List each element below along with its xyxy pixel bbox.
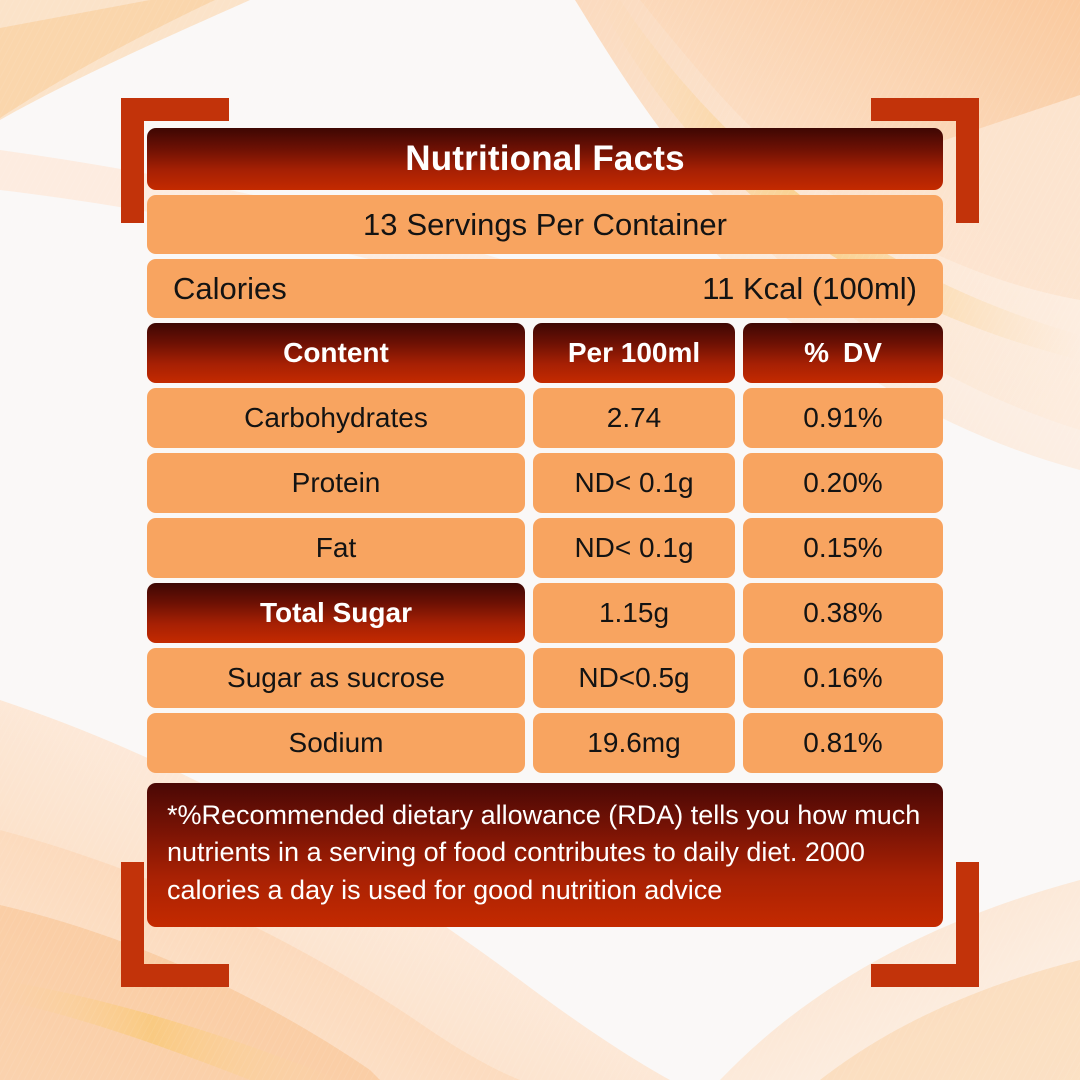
nutrient-per-100ml-cell: 2.74 bbox=[533, 388, 735, 448]
nutrient-name-cell: Protein bbox=[147, 453, 525, 513]
nutrition-label-graphic: Nutritional Facts 13 Servings Per Contai… bbox=[0, 0, 1080, 1080]
nutrient-rows-container: Carbohydrates2.740.91%ProteinND< 0.1g0.2… bbox=[147, 388, 943, 773]
nutrient-dv-value: 0.38% bbox=[803, 597, 882, 629]
nutrient-per-100ml-value: 2.74 bbox=[607, 402, 662, 434]
calories-row: Calories 11 Kcal (100ml) bbox=[147, 259, 943, 318]
bracket-arm-vertical bbox=[121, 98, 144, 223]
calories-label: Calories bbox=[173, 271, 287, 307]
table-row: Sodium19.6mg0.81% bbox=[147, 713, 943, 773]
nutrient-name-label: Sugar as sucrose bbox=[227, 662, 445, 694]
column-header-dv-label: DV bbox=[843, 337, 882, 369]
nutrient-name-cell: Sodium bbox=[147, 713, 525, 773]
page-title: Nutritional Facts bbox=[405, 139, 685, 179]
nutrient-per-100ml-cell: 1.15g bbox=[533, 583, 735, 643]
nutrient-per-100ml-value: ND<0.5g bbox=[578, 662, 689, 694]
bracket-arm-vertical bbox=[121, 862, 144, 987]
nutrient-dv-value: 0.91% bbox=[803, 402, 882, 434]
bracket-arm-horizontal bbox=[121, 98, 229, 121]
nutrient-name-cell: Carbohydrates bbox=[147, 388, 525, 448]
servings-per-container-label: Servings Per Container bbox=[406, 207, 727, 243]
nutrient-name-cell: Total Sugar bbox=[147, 583, 525, 643]
column-header-dv-percent-symbol: % bbox=[804, 337, 829, 369]
nutrient-per-100ml-value: 1.15g bbox=[599, 597, 669, 629]
nutrient-dv-cell: 0.81% bbox=[743, 713, 943, 773]
nutrient-name-label: Sodium bbox=[289, 727, 384, 759]
rda-footnote-text: *%Recommended dietary allowance (RDA) te… bbox=[167, 797, 923, 909]
column-header-per-100ml-label: Per 100ml bbox=[568, 337, 700, 369]
nutrient-dv-cell: 0.15% bbox=[743, 518, 943, 578]
nutrient-per-100ml-cell: ND< 0.1g bbox=[533, 518, 735, 578]
nutrient-dv-cell: 0.38% bbox=[743, 583, 943, 643]
bracket-arm-vertical bbox=[956, 98, 979, 223]
bracket-arm-horizontal bbox=[121, 964, 229, 987]
nutrient-dv-cell: 0.16% bbox=[743, 648, 943, 708]
nutrient-dv-cell: 0.20% bbox=[743, 453, 943, 513]
column-header-per-100ml: Per 100ml bbox=[533, 323, 735, 383]
nutrition-facts-panel: Nutritional Facts 13 Servings Per Contai… bbox=[147, 128, 943, 927]
calories-value: 11 Kcal (100ml) bbox=[702, 271, 917, 307]
servings-count-value: 13 bbox=[363, 207, 397, 243]
column-header-content-label: Content bbox=[283, 337, 389, 369]
nutrient-per-100ml-value: 19.6mg bbox=[587, 727, 680, 759]
label-title-band: Nutritional Facts bbox=[147, 128, 943, 190]
nutrient-name-label: Carbohydrates bbox=[244, 402, 428, 434]
table-row: Sugar as sucroseND<0.5g0.16% bbox=[147, 648, 943, 708]
nutrient-name-label: Protein bbox=[292, 467, 381, 499]
column-header-content: Content bbox=[147, 323, 525, 383]
nutrient-name-cell: Fat bbox=[147, 518, 525, 578]
rda-footnote-band: *%Recommended dietary allowance (RDA) te… bbox=[147, 783, 943, 927]
nutrient-dv-value: 0.15% bbox=[803, 532, 882, 564]
bracket-arm-horizontal bbox=[871, 98, 979, 121]
table-header-row: Content Per 100ml % DV bbox=[147, 323, 943, 383]
servings-per-container-row: 13 Servings Per Container bbox=[147, 195, 943, 254]
nutrient-dv-value: 0.20% bbox=[803, 467, 882, 499]
nutrient-table: Content Per 100ml % DV Carbohydrates2.74… bbox=[147, 323, 943, 773]
bracket-arm-vertical bbox=[956, 862, 979, 987]
table-row: Total Sugar1.15g0.38% bbox=[147, 583, 943, 643]
nutrient-dv-value: 0.16% bbox=[803, 662, 882, 694]
nutrient-dv-value: 0.81% bbox=[803, 727, 882, 759]
nutrient-per-100ml-cell: 19.6mg bbox=[533, 713, 735, 773]
nutrient-name-cell: Sugar as sucrose bbox=[147, 648, 525, 708]
nutrient-dv-cell: 0.91% bbox=[743, 388, 943, 448]
nutrient-name-label: Total Sugar bbox=[260, 597, 412, 629]
bracket-arm-horizontal bbox=[871, 964, 979, 987]
nutrient-per-100ml-value: ND< 0.1g bbox=[574, 467, 693, 499]
column-header-dv: % DV bbox=[743, 323, 943, 383]
nutrient-per-100ml-cell: ND< 0.1g bbox=[533, 453, 735, 513]
nutrient-name-label: Fat bbox=[316, 532, 356, 564]
nutrient-per-100ml-value: ND< 0.1g bbox=[574, 532, 693, 564]
nutrient-per-100ml-cell: ND<0.5g bbox=[533, 648, 735, 708]
table-row: Carbohydrates2.740.91% bbox=[147, 388, 943, 448]
table-row: ProteinND< 0.1g0.20% bbox=[147, 453, 943, 513]
table-row: FatND< 0.1g0.15% bbox=[147, 518, 943, 578]
